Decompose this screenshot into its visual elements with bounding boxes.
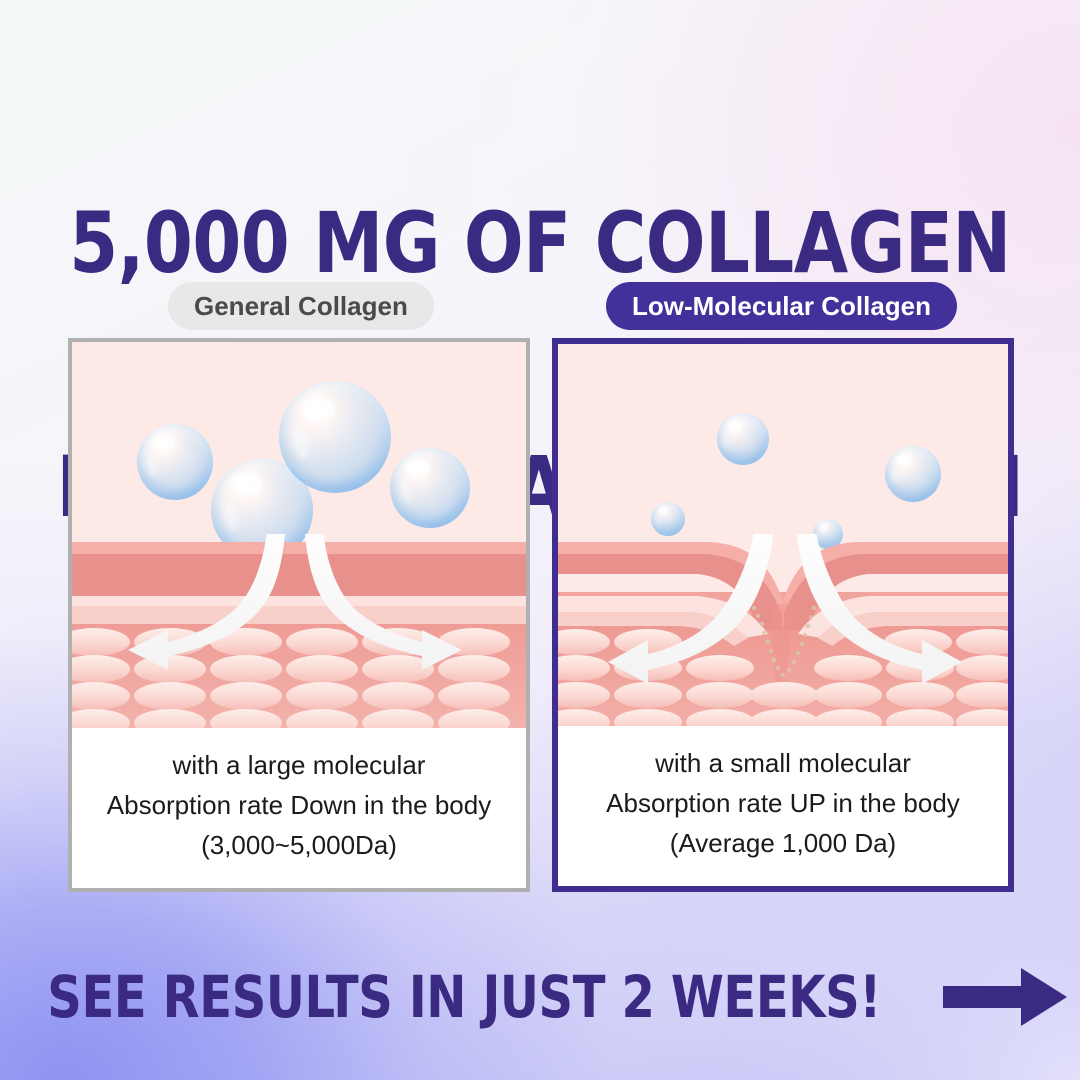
infographic-poster: 5,000 MG OF COLLAGEN FOR QUICK ABSORPTIO…	[0, 0, 1080, 1080]
caption-line: (Average 1,000 Da)	[670, 823, 896, 863]
illustration-small-molecule	[558, 344, 1008, 734]
skin-cross-section-penetrated	[558, 534, 1008, 734]
panel-low-molecular-collagen: with a small molecular Absorption rate U…	[552, 338, 1014, 892]
footer-cta: SEE RESULTS IN JUST 2 WEEKS!	[0, 952, 1080, 1042]
skin-cross-section-flat	[72, 534, 526, 734]
panel-general-collagen: with a large molecular Absorption rate D…	[68, 338, 530, 892]
caption-line: Absorption rate Down in the body	[107, 785, 491, 825]
label-low-molecular-collagen: Low-Molecular Collagen	[606, 282, 957, 330]
collagen-bubble	[885, 446, 941, 502]
cta-text: SEE RESULTS IN JUST 2 WEEKS!	[47, 963, 881, 1031]
caption-low-molecular-collagen: with a small molecular Absorption rate U…	[558, 726, 1008, 886]
collagen-bubble	[279, 381, 391, 493]
caption-general-collagen: with a large molecular Absorption rate D…	[72, 728, 526, 888]
caption-line: (3,000~5,000Da)	[201, 825, 397, 865]
collagen-bubble	[717, 413, 769, 465]
illustration-large-molecule	[72, 342, 526, 734]
collagen-bubble	[137, 424, 213, 500]
caption-line: Absorption rate UP in the body	[606, 783, 960, 823]
caption-line: with a large molecular	[173, 745, 426, 785]
collagen-bubble	[651, 502, 685, 536]
right-arrow-icon	[943, 966, 1069, 1028]
label-general-collagen: General Collagen	[168, 282, 434, 330]
headline-line-1: 5,000 MG OF COLLAGEN	[38, 203, 1042, 284]
collagen-bubble	[390, 448, 470, 528]
caption-line: with a small molecular	[655, 743, 911, 783]
